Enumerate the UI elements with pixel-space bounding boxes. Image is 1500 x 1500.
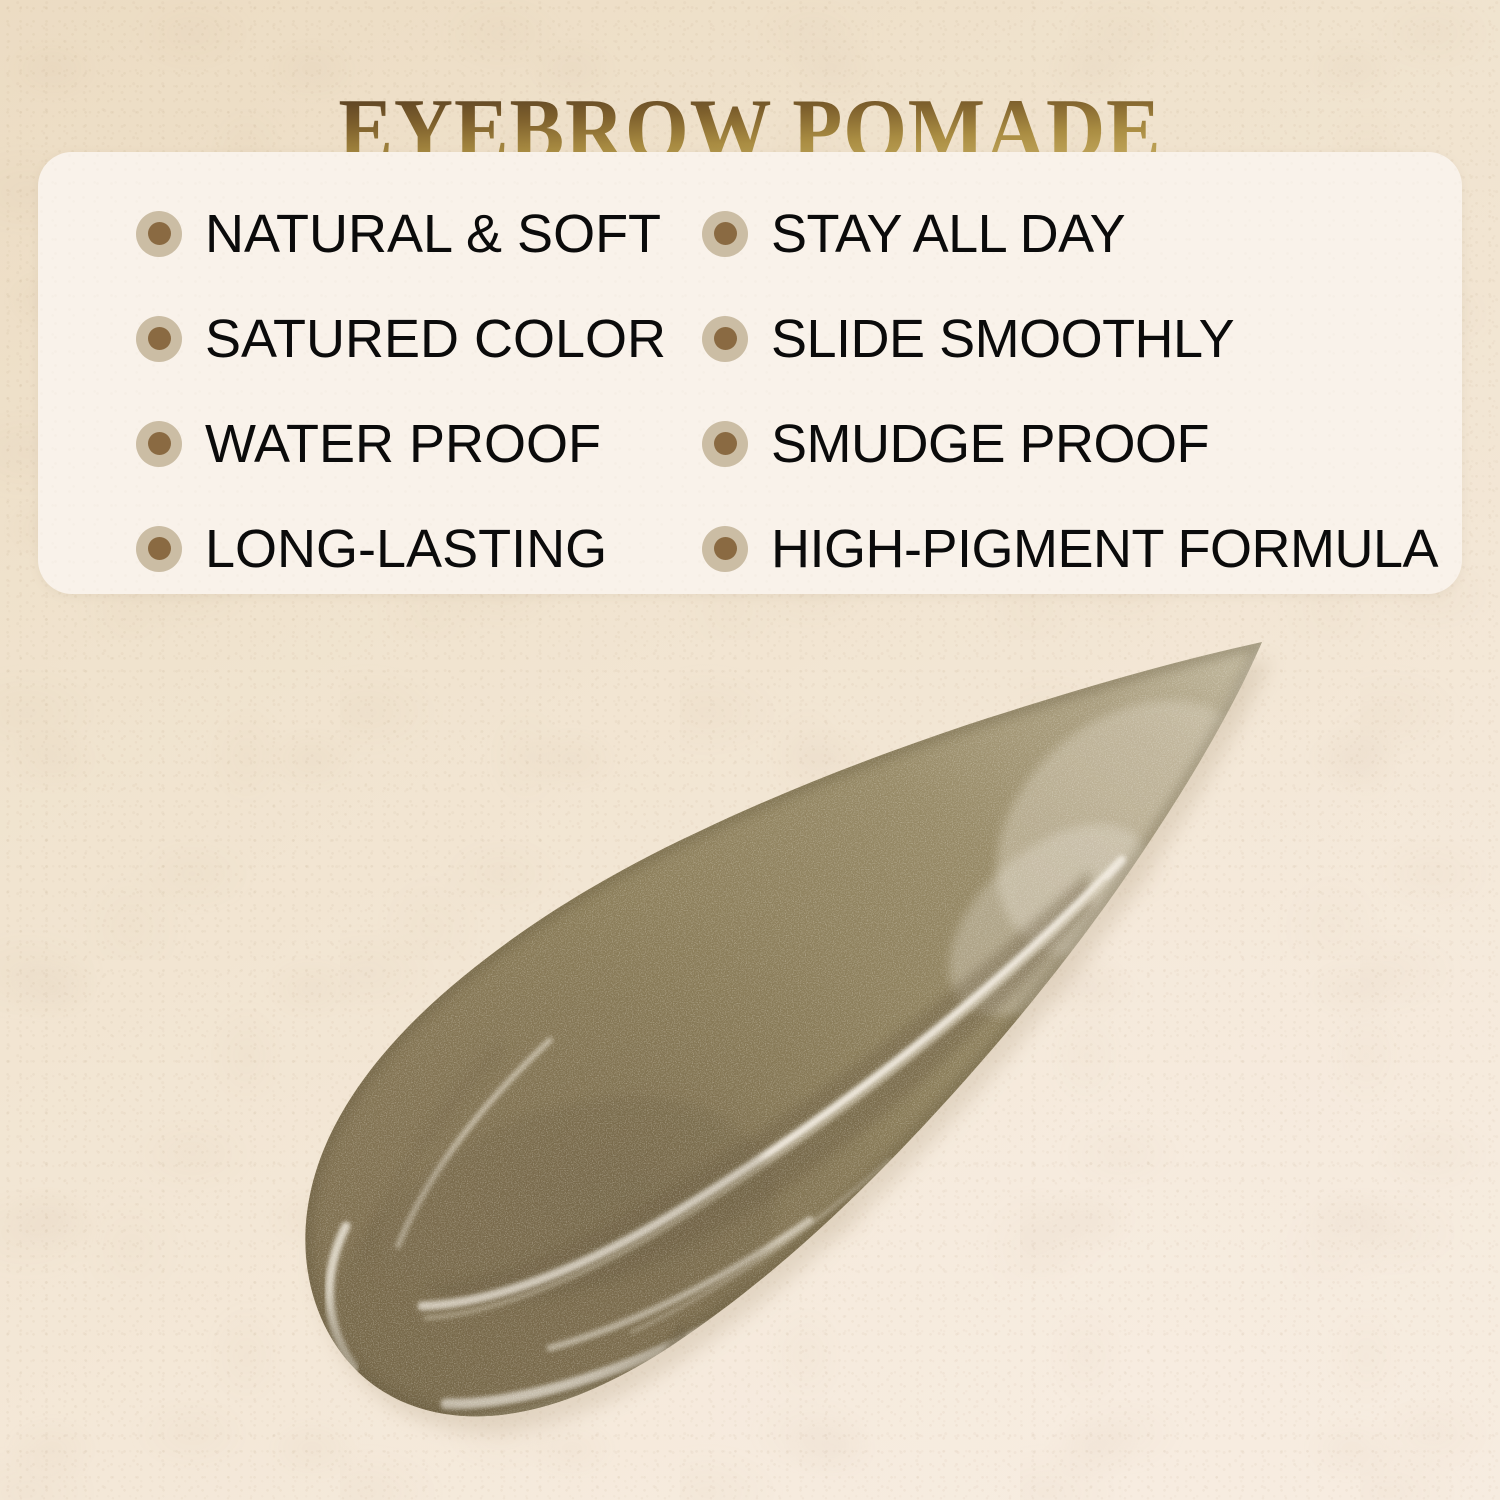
feature-label: SATURED COLOR bbox=[205, 310, 666, 368]
swatch-glitter-coarse bbox=[250, 620, 1310, 1460]
bullet-dot-icon bbox=[136, 526, 182, 572]
feature-label: SLIDE SMOOTHLY bbox=[771, 310, 1234, 368]
bullet-dot-icon bbox=[136, 316, 182, 362]
feature-label: LONG-LASTING bbox=[205, 520, 607, 578]
product-marketing-image: EYEBROW POMADE NATURAL & SOFT STAY ALL D… bbox=[0, 0, 1500, 1500]
bullet-dot-icon bbox=[702, 421, 748, 467]
bullet-dot-icon bbox=[136, 421, 182, 467]
swatch-detail-group bbox=[250, 620, 1310, 1460]
feature-label: STAY ALL DAY bbox=[771, 205, 1125, 263]
bullet-dot-icon bbox=[702, 211, 748, 257]
feature-label: NATURAL & SOFT bbox=[205, 205, 661, 263]
feature-item-slide-smoothly: SLIDE SMOOTHLY bbox=[650, 286, 1462, 391]
feature-item-stay-all-day: STAY ALL DAY bbox=[650, 181, 1462, 286]
feature-grid: NATURAL & SOFT STAY ALL DAY SATURED COLO… bbox=[38, 152, 1462, 594]
bullet-dot-icon bbox=[702, 316, 748, 362]
feature-item-smudge-proof: SMUDGE PROOF bbox=[650, 391, 1462, 496]
feature-list-card: NATURAL & SOFT STAY ALL DAY SATURED COLO… bbox=[38, 152, 1462, 594]
bullet-dot-icon bbox=[136, 211, 182, 257]
feature-label: SMUDGE PROOF bbox=[771, 415, 1209, 473]
feature-item-natural-soft: NATURAL & SOFT bbox=[38, 181, 650, 286]
feature-item-high-pigment-formula: HIGH-PIGMENT FORMULA bbox=[650, 496, 1462, 594]
feature-label: WATER PROOF bbox=[205, 415, 601, 473]
pomade-smear-illustration bbox=[250, 620, 1310, 1460]
feature-item-satured-color: SATURED COLOR bbox=[38, 286, 650, 391]
product-swatch: Eyebrow pomade cream smear swatch bbox=[250, 620, 1310, 1460]
feature-item-water-proof: WATER PROOF bbox=[38, 391, 650, 496]
feature-label: HIGH-PIGMENT FORMULA bbox=[771, 520, 1438, 578]
feature-item-long-lasting: LONG-LASTING bbox=[38, 496, 650, 594]
bullet-dot-icon bbox=[702, 526, 748, 572]
